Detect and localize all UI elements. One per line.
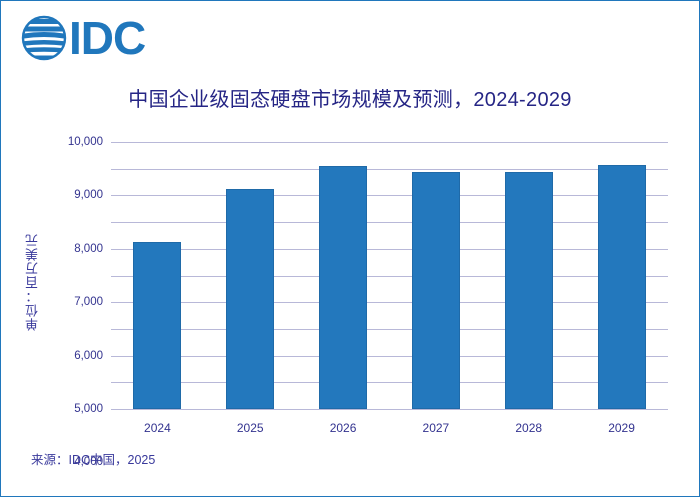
y-axis-tick-label: 6,000 bbox=[39, 350, 103, 362]
x-axis-tick-label: 2025 bbox=[237, 421, 264, 435]
x-axis-tick-label: 2028 bbox=[515, 421, 542, 435]
y-axis-tick-label: 7,000 bbox=[39, 296, 103, 308]
y-axis-tick-label: 9,000 bbox=[39, 189, 103, 201]
idc-wordmark: IDC bbox=[69, 15, 145, 61]
bar-slot: 2029 bbox=[575, 142, 668, 409]
bar-slot: 2024 bbox=[111, 142, 204, 409]
bar-slot: 2025 bbox=[204, 142, 297, 409]
bar-2025[interactable] bbox=[226, 189, 274, 409]
gridline: 0 bbox=[111, 409, 668, 410]
chart-canvas: IDC 中国企业级固态硬盘市场规模及预测，2024-2029 单位：百万美元 1… bbox=[0, 0, 700, 497]
bar-2024[interactable] bbox=[133, 242, 181, 409]
x-axis-tick-label: 2024 bbox=[144, 421, 171, 435]
bar-slot: 2027 bbox=[389, 142, 482, 409]
bar-slot: 2028 bbox=[482, 142, 575, 409]
bar-2029[interactable] bbox=[598, 165, 646, 409]
idc-globe-icon bbox=[21, 15, 67, 61]
bar-2026[interactable] bbox=[319, 166, 367, 410]
bar-slot: 2026 bbox=[297, 142, 390, 409]
x-axis-tick-label: 2027 bbox=[423, 421, 450, 435]
y-axis-tick-label: 8,000 bbox=[39, 243, 103, 255]
chart-title: 中国企业级固态硬盘市场规模及预测，2024-2029 bbox=[1, 83, 699, 112]
source-note: 来源：IDC中国，2025 bbox=[31, 449, 155, 468]
y-axis-title: 单位：百万美元 bbox=[23, 181, 43, 331]
y-axis-tick-label: 5,000 bbox=[39, 403, 103, 415]
bar-2028[interactable] bbox=[505, 172, 553, 409]
bar-2027[interactable] bbox=[412, 172, 460, 409]
x-axis-tick-label: 2029 bbox=[608, 421, 635, 435]
x-axis-tick-label: 2026 bbox=[330, 421, 357, 435]
y-axis-tick-label: 10,000 bbox=[39, 136, 103, 148]
idc-logo: IDC bbox=[21, 11, 145, 65]
plot-area: 10,0009,0008,0007,0006,0005,0004,0003,00… bbox=[111, 142, 668, 409]
bars-group: 202420252026202720282029 bbox=[111, 142, 668, 409]
